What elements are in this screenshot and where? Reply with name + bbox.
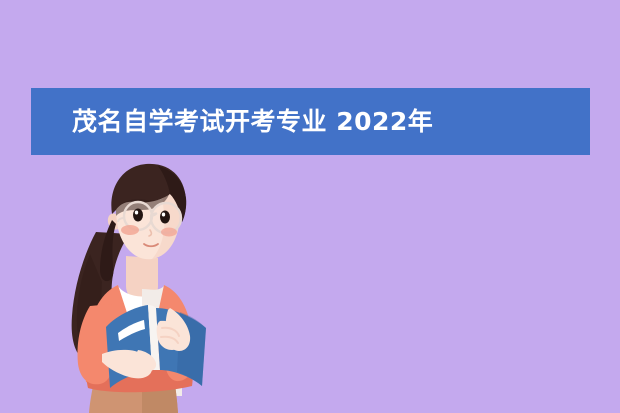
title-banner-bar: 茂名自学考试开考专业 2022年 bbox=[31, 88, 590, 155]
woman-reading-book-illustration bbox=[30, 158, 260, 413]
page-title: 茂名自学考试开考专业 2022年 bbox=[72, 109, 433, 134]
woman-reading-book-icon bbox=[30, 158, 260, 413]
promo-banner-card: 茂名自学考试开考专业 2022年 bbox=[0, 0, 620, 413]
